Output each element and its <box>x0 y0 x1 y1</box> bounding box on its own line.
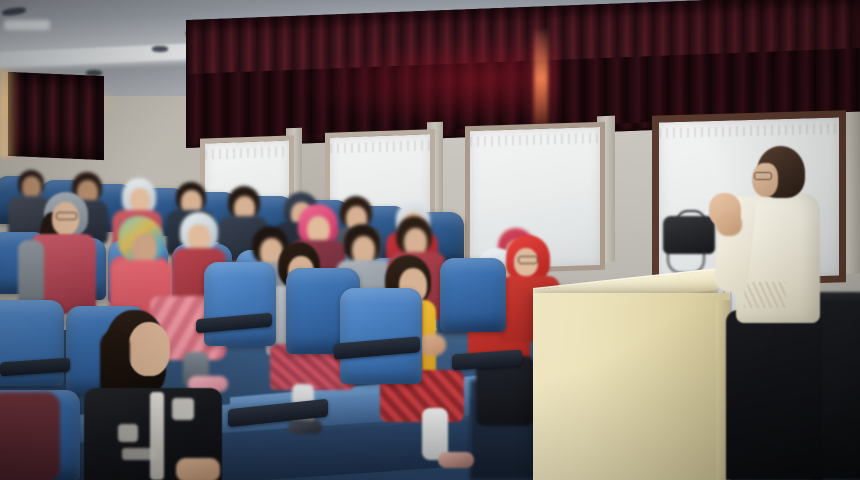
audience-member-partial <box>0 392 60 480</box>
seat <box>440 258 506 332</box>
window-blind-texture <box>330 140 430 153</box>
hands <box>418 334 446 356</box>
ceiling-fixture-icon <box>152 46 168 52</box>
curtain-panel-left <box>8 72 104 160</box>
speaker-trousers <box>726 310 822 480</box>
sweater-knit-texture <box>744 282 786 308</box>
jacket-patch <box>118 424 138 442</box>
sandal <box>438 452 474 468</box>
jacket-patch <box>122 448 156 460</box>
glasses-icon <box>518 256 538 264</box>
hands <box>176 458 220 480</box>
podium <box>533 293 729 480</box>
glasses-icon <box>754 172 772 180</box>
window-blind-texture <box>659 123 839 138</box>
window-blind-texture <box>205 147 289 160</box>
jacket-zip-trim <box>150 392 164 480</box>
seat <box>204 262 276 346</box>
photograph-auditorium-presentation: Seminar presentation in a school auditor… <box>0 0 860 480</box>
curtain-left-light-edge <box>0 70 16 159</box>
curtain-red-sheen <box>300 31 560 133</box>
speaker-hand <box>716 212 742 236</box>
jacket-patch <box>172 398 194 420</box>
seat <box>340 288 422 384</box>
glasses-icon <box>56 212 77 220</box>
window-blind-texture <box>470 133 600 147</box>
ceiling-light-panel-icon <box>4 20 50 30</box>
speaker-face <box>752 163 778 197</box>
backpack-on-sill <box>663 216 715 254</box>
shoe <box>288 420 322 434</box>
curtain-light-gap <box>534 30 548 127</box>
